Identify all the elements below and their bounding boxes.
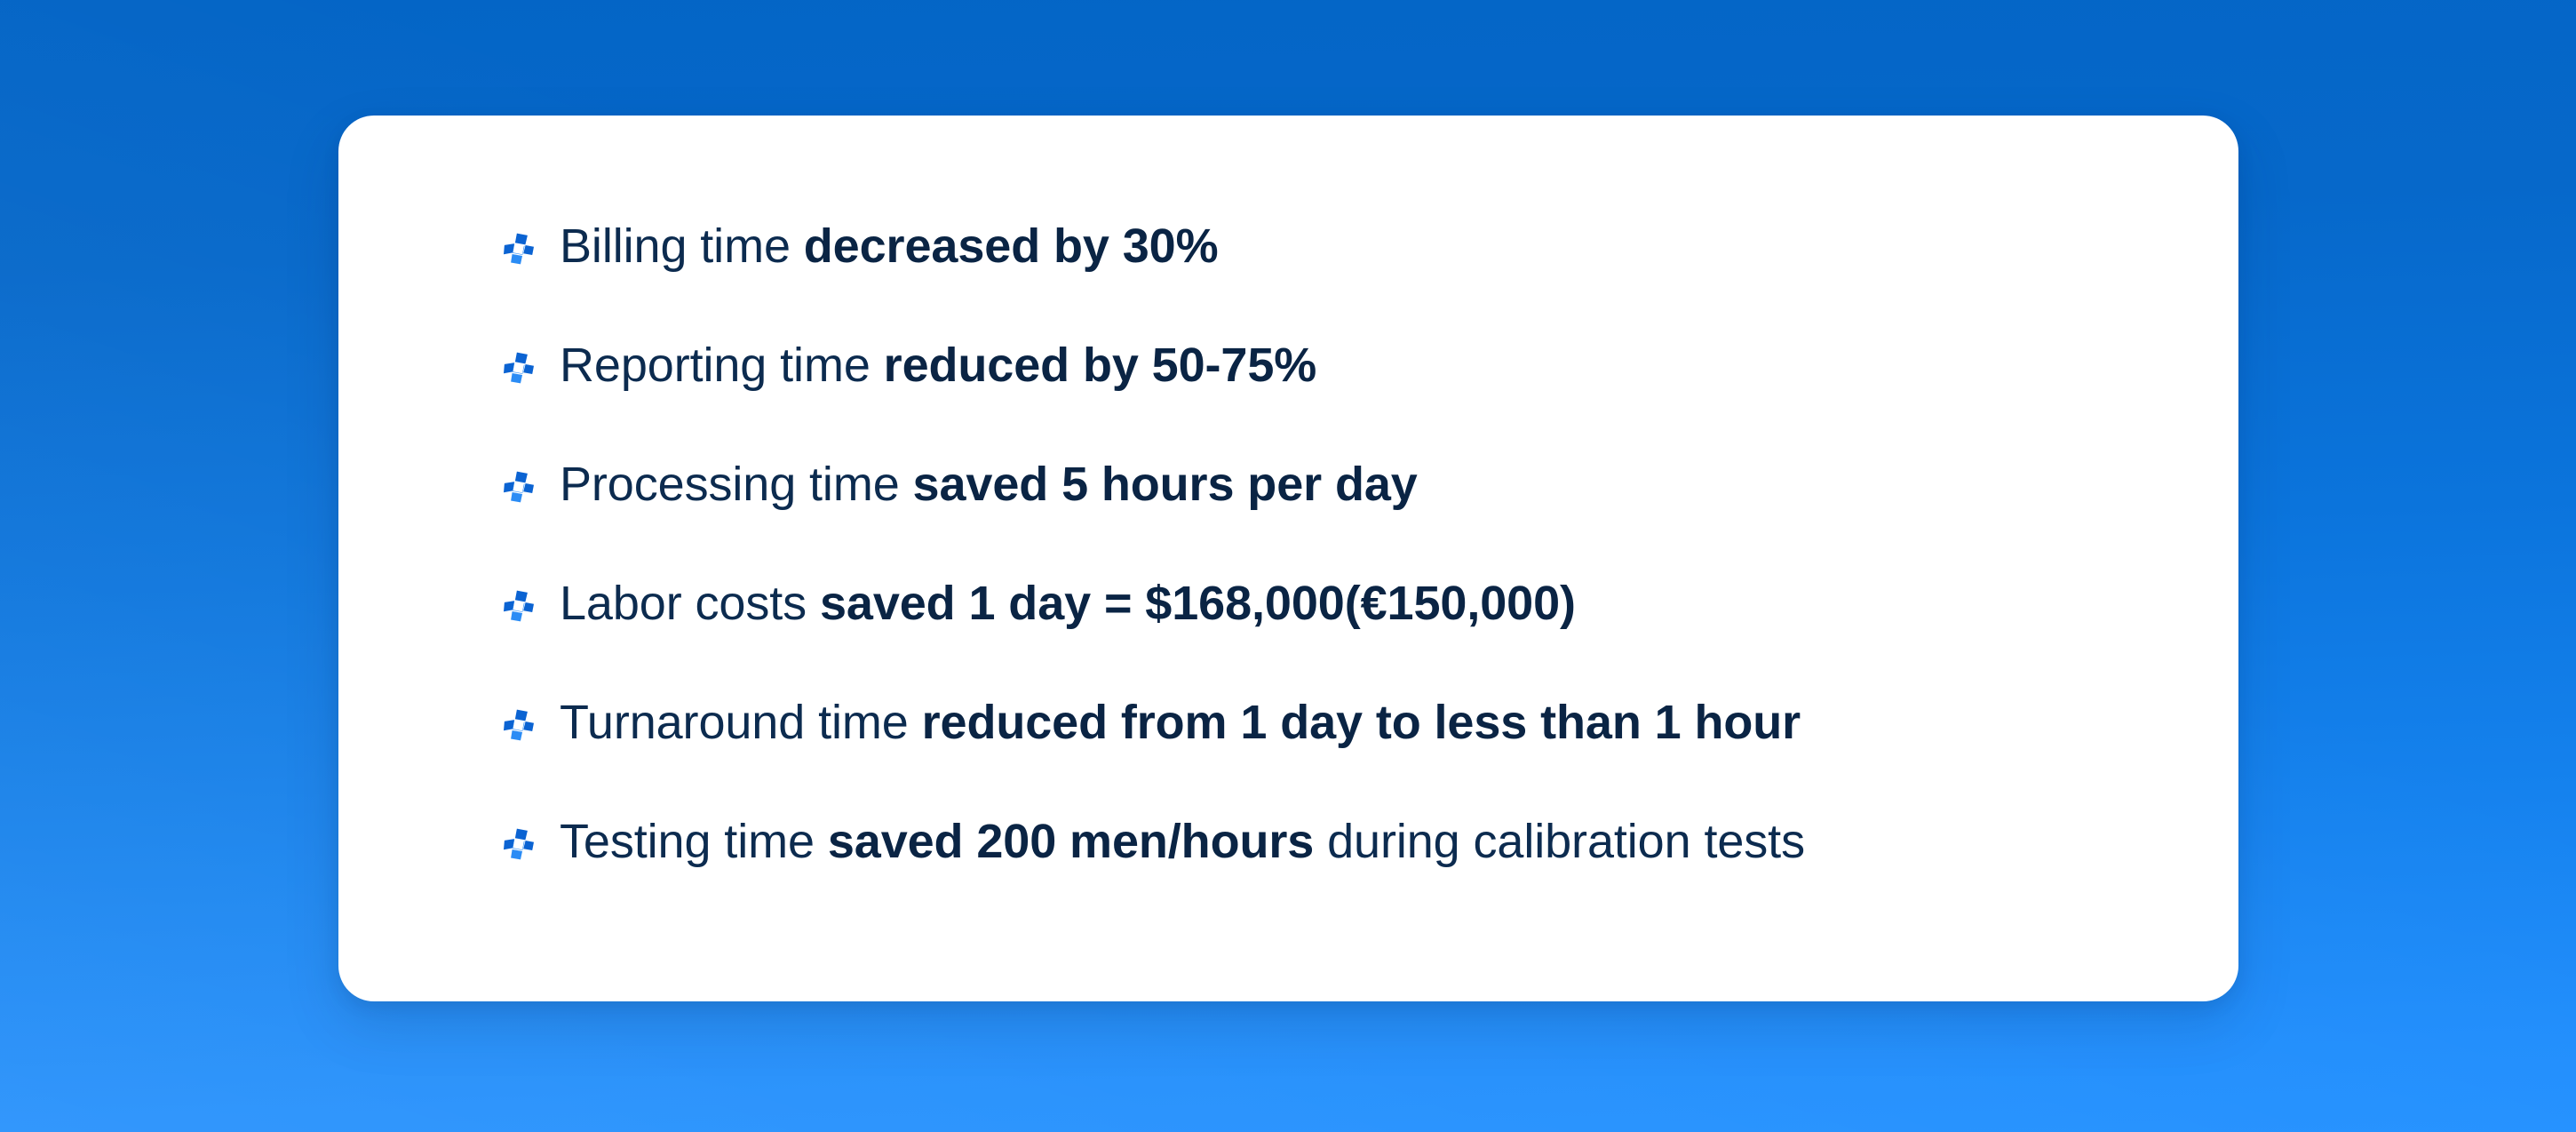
list-item-lead: Billing time <box>560 219 804 273</box>
list-item-text: Turnaround time reduced from 1 day to le… <box>560 684 1801 761</box>
four-quadrant-cross-icon <box>504 828 534 860</box>
list-item: Testing time saved 200 men/hours during … <box>504 803 2185 922</box>
list-item-emphasis: saved 5 hours per day <box>913 458 1418 511</box>
benefits-list: Billing time decreased by 30% Reporting … <box>504 208 2185 922</box>
list-item-text: Labor costs saved 1 day = $168,000(€150,… <box>560 565 1576 642</box>
list-item-lead: Testing time <box>560 815 828 868</box>
list-item-lead: Turnaround time <box>560 696 922 749</box>
four-quadrant-cross-icon <box>504 352 534 384</box>
list-item: Reporting time reduced by 50-75% <box>504 327 2185 446</box>
list-item: Turnaround time reduced from 1 day to le… <box>504 684 2185 803</box>
four-quadrant-cross-icon <box>504 233 534 265</box>
list-item-text: Processing time saved 5 hours per day <box>560 446 1418 522</box>
list-item-tail: during calibration tests <box>1314 815 1805 868</box>
four-quadrant-cross-icon <box>504 709 534 741</box>
list-item-emphasis: saved 1 day = $168,000(€150,000) <box>820 577 1576 630</box>
list-item: Billing time decreased by 30% <box>504 208 2185 327</box>
list-item-lead: Reporting time <box>560 339 884 392</box>
benefits-card: Billing time decreased by 30% Reporting … <box>338 116 2238 1001</box>
list-item-text: Testing time saved 200 men/hours during … <box>560 803 1805 880</box>
four-quadrant-cross-icon <box>504 590 534 622</box>
list-item-emphasis: reduced from 1 day to less than 1 hour <box>922 696 1801 749</box>
list-item-emphasis: decreased by 30% <box>804 219 1219 273</box>
list-item-lead: Processing time <box>560 458 913 511</box>
slide-canvas: Billing time decreased by 30% Reporting … <box>0 0 2576 1132</box>
list-item-text: Billing time decreased by 30% <box>560 208 1218 284</box>
list-item: Processing time saved 5 hours per day <box>504 446 2185 565</box>
list-item-emphasis: saved 200 men/hours <box>828 815 1314 868</box>
list-item-emphasis: reduced by 50-75% <box>884 339 1317 392</box>
list-item-text: Reporting time reduced by 50-75% <box>560 327 1316 403</box>
list-item: Labor costs saved 1 day = $168,000(€150,… <box>504 565 2185 684</box>
four-quadrant-cross-icon <box>504 471 534 503</box>
list-item-lead: Labor costs <box>560 577 820 630</box>
